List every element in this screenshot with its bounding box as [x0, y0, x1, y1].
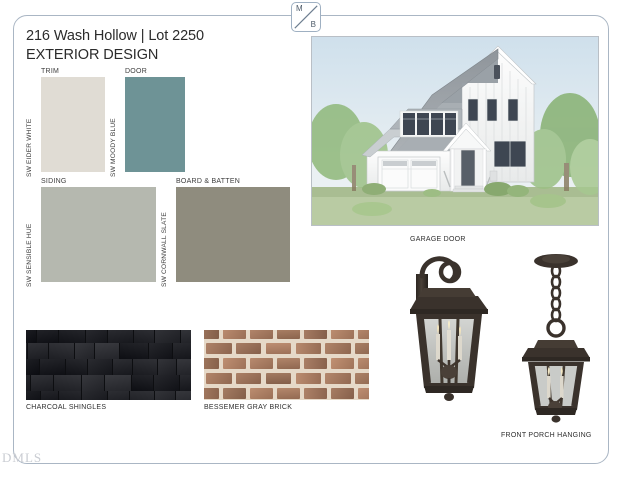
brick-course — [204, 371, 369, 386]
brick-unit — [206, 343, 231, 354]
shingle-tab — [181, 330, 191, 344]
shingle-row — [26, 375, 191, 392]
brick-unit — [204, 388, 219, 399]
brick-course — [204, 386, 369, 400]
brick-unit — [223, 388, 246, 399]
brick-unit — [236, 343, 261, 354]
shingle-tab — [26, 330, 37, 344]
shingle-tab — [177, 359, 191, 376]
brick-unit — [304, 358, 327, 369]
shingle-tab — [176, 391, 191, 400]
shingle-tab — [49, 343, 75, 360]
brick-unit — [304, 330, 327, 339]
shingle-tab — [37, 330, 60, 344]
swatch-trim-category: TRIM — [41, 68, 59, 75]
shingle-tab — [95, 343, 120, 360]
shingle-tab — [149, 343, 173, 360]
title-subtitle: EXTERIOR DESIGN — [26, 46, 204, 65]
material-sample-charcoal-shingles-label: CHARCOAL SHINGLES — [26, 404, 106, 411]
brick-unit — [296, 343, 321, 354]
brick-unit — [325, 343, 350, 354]
shingle-tab — [28, 343, 49, 360]
shingle-row — [26, 359, 191, 376]
shingle-tab — [59, 391, 81, 400]
brick-unit — [355, 343, 369, 354]
shingle-tab — [155, 330, 180, 344]
brick-unit — [266, 343, 291, 354]
shingle-tab — [154, 375, 180, 392]
brick-unit — [331, 330, 354, 339]
logo-letter-m: M — [296, 4, 303, 14]
brick-unit — [277, 388, 300, 399]
shingle-tab — [155, 391, 176, 400]
swatch-siding-category: SIDING — [41, 178, 67, 185]
shingle-tab — [26, 391, 41, 400]
title-address: 216 Wash Hollow | Lot 2250 — [26, 27, 204, 46]
shingle-tab — [41, 391, 59, 400]
page-title: 216 Wash Hollow | Lot 2250 EXTERIOR DESI… — [26, 27, 204, 65]
material-sample-charcoal-shingles — [26, 330, 191, 400]
brick-unit — [204, 330, 219, 339]
shingle-tab — [173, 343, 191, 360]
brick-texture — [204, 330, 369, 400]
swatch-trim-chip — [41, 77, 105, 172]
shingle-tab — [105, 375, 132, 392]
shingle-tab — [66, 359, 87, 376]
brick-unit — [236, 373, 261, 384]
shingle-tab — [120, 343, 149, 360]
shingle-tab — [132, 375, 154, 392]
exterior-design-board: M B 216 Wash Hollow | Lot 2250 EXTERIOR … — [0, 0, 621, 480]
brick-unit — [304, 388, 327, 399]
fixture-front-porch-hanging-label: FRONT PORCH HANGING — [501, 432, 592, 439]
shingle-tab — [113, 359, 133, 376]
brick-unit — [331, 358, 354, 369]
shingle-tab — [31, 375, 55, 392]
swatch-trim-paint-name: SW EIDER WHITE — [26, 119, 33, 177]
material-sample-bessemer-gray-brick — [204, 330, 369, 400]
shingle-tab — [40, 359, 66, 376]
shingle-tab — [158, 359, 177, 376]
brick-unit — [250, 358, 273, 369]
brick-unit — [223, 330, 246, 339]
shingle-tab — [59, 330, 86, 344]
brick-unit — [296, 373, 321, 384]
swatch-door-chip — [125, 77, 185, 172]
material-sample-bessemer-gray-brick-label: BESSEMER GRAY BRICK — [204, 404, 292, 411]
brick-unit — [277, 358, 300, 369]
brick-unit — [223, 358, 246, 369]
swatch-door-category: DOOR — [125, 68, 147, 75]
brick-course — [204, 330, 369, 341]
logo-letter-b: B — [311, 20, 316, 30]
brick-unit — [266, 373, 291, 384]
brick-unit — [325, 373, 350, 384]
brick-unit — [250, 388, 273, 399]
brick-unit — [206, 373, 231, 384]
fixture-garage-door-wall-lantern — [396, 252, 508, 407]
shingle-tab — [88, 359, 114, 376]
shingle-tab — [75, 343, 95, 360]
house-elevation-illustration — [312, 37, 599, 226]
brick-unit — [277, 330, 300, 339]
shingle-texture — [26, 330, 191, 400]
shingle-row — [26, 343, 191, 360]
shingle-tab — [134, 330, 155, 344]
brick-unit — [358, 358, 369, 369]
hanging-lantern-icon — [508, 252, 604, 424]
brick-unit — [358, 330, 369, 339]
brick-unit — [358, 388, 369, 399]
shingle-tab — [180, 375, 191, 392]
shingle-tab — [108, 330, 134, 344]
shingle-tab — [130, 391, 156, 400]
swatch-board-and-batten-chip — [176, 187, 290, 282]
brick-unit — [204, 358, 219, 369]
brick-unit — [355, 373, 369, 384]
mb-monogram-logo: M B — [291, 2, 321, 32]
shingle-tab — [54, 375, 82, 392]
swatch-door-paint-name: SW MOODY BLUE — [110, 118, 117, 177]
brick-unit — [250, 330, 273, 339]
mls-watermark: DMLS — [2, 450, 42, 466]
shingle-tab — [82, 391, 108, 400]
brick-course — [204, 341, 369, 356]
elevation-caption: GARAGE DOOR — [410, 236, 466, 243]
fixture-front-porch-hanging-lantern — [508, 252, 604, 424]
swatch-siding-chip — [41, 187, 156, 282]
swatch-board-and-batten-paint-name: SW CORNWALL SLATE — [161, 212, 168, 287]
shingle-tab — [133, 359, 158, 376]
swatch-siding-paint-name: SW SENSIBLE HUE — [26, 224, 33, 287]
shingle-row — [26, 330, 191, 344]
brick-course — [204, 356, 369, 371]
elevation-rendering — [311, 36, 599, 226]
wall-lantern-icon — [396, 252, 508, 407]
shingle-tab — [86, 330, 108, 344]
shingle-row — [26, 391, 191, 400]
shingle-tab — [108, 391, 130, 400]
shingle-tab — [26, 359, 40, 376]
brick-unit — [331, 388, 354, 399]
swatch-board-and-batten-category: BOARD & BATTEN — [176, 178, 240, 185]
shingle-tab — [82, 375, 105, 392]
